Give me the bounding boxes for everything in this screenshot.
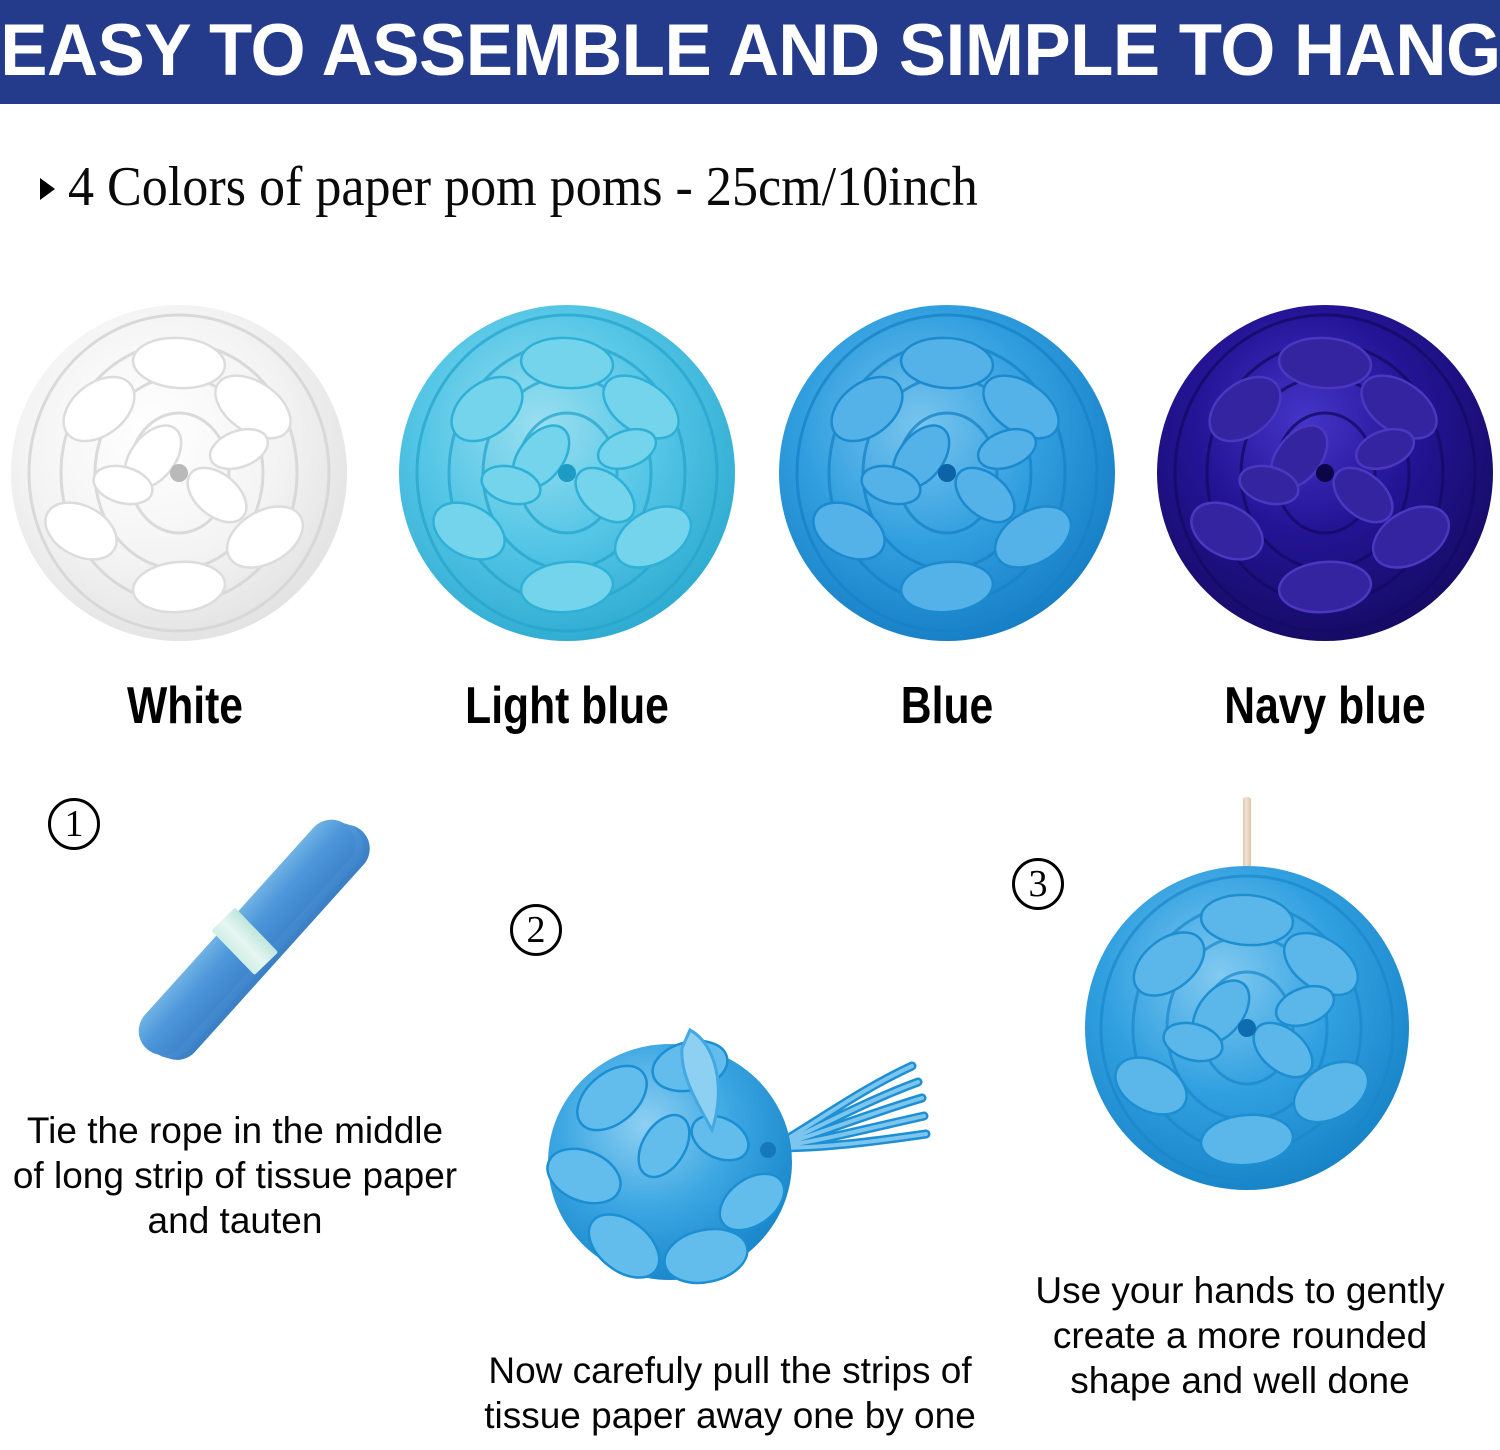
pom-pom-label-navy-blue: Navy blue — [1173, 676, 1476, 736]
pom-pom-label-row: White Light blue Blue Navy blue — [0, 676, 1500, 748]
pom-pom-image-blue — [771, 297, 1123, 649]
step-1-illustration-tissue-strip — [100, 790, 400, 1090]
pom-pom-image-white — [3, 297, 355, 649]
step-3-caption: Use your hands to gently create a more r… — [1000, 1268, 1480, 1403]
header-banner: EASY TO ASSEMBLE AND SIMPLE TO HANG — [0, 0, 1500, 104]
step-2-illustration-half-fluffed-pom — [540, 970, 940, 1310]
pom-pom-image-light-blue — [391, 297, 743, 649]
pom-pom-swatch-navy-blue — [1140, 278, 1500, 668]
step-2-number-badge: 2 — [510, 904, 562, 956]
pom-pom-swatch-light-blue — [382, 278, 752, 668]
pom-pom-petals-svg — [3, 297, 355, 649]
half-fluffed-pom-svg — [540, 970, 940, 1310]
subtitle-text: 4 Colors of paper pom poms - 25cm/10inch — [68, 155, 978, 219]
step-3-illustration-finished-pom — [1077, 858, 1417, 1198]
pom-pom-label-white: White — [33, 676, 336, 736]
pom-pom-swatch-blue — [762, 278, 1132, 668]
finished-pom-pom-svg — [1077, 858, 1417, 1198]
step-3-number-badge: 3 — [1012, 858, 1064, 910]
step-1-caption: Tie the rope in the middle of long strip… — [10, 1108, 460, 1243]
pom-pom-image-navy-blue — [1149, 297, 1500, 649]
pom-pom-petals-svg — [1149, 297, 1500, 649]
pom-pom-swatch-row — [0, 278, 1500, 668]
banner-title: EASY TO ASSEMBLE AND SIMPLE TO HANG — [0, 14, 1500, 87]
pom-pom-label-blue: Blue — [795, 676, 1098, 736]
triangle-right-icon — [40, 178, 55, 200]
step-1-number-badge: 1 — [48, 798, 100, 850]
subtitle-row: 4 Colors of paper pom poms - 25cm/10inch — [40, 155, 1046, 219]
pom-pom-petals-svg — [391, 297, 743, 649]
step-2-caption: Now carefuly pull the strips of tissue p… — [460, 1348, 1000, 1438]
folded-tissue-strip — [129, 810, 371, 1070]
pom-pom-label-light-blue: Light blue — [415, 676, 718, 736]
pom-pom-petals-svg — [771, 297, 1123, 649]
pom-pom-swatch-white — [0, 278, 364, 668]
